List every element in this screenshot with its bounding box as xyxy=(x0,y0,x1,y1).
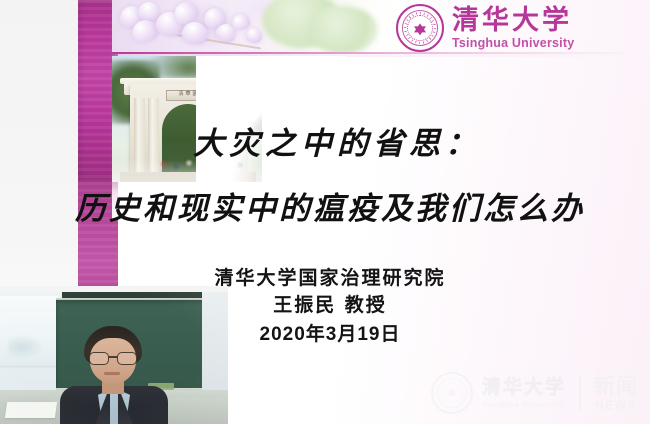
watermark-news-chinese: 新闻 xyxy=(594,375,638,396)
slide-title-line-2: 历史和现实中的瘟疫及我们怎么办 xyxy=(0,183,650,228)
speaker-figure xyxy=(58,320,170,424)
lilac-flowers-image xyxy=(112,0,400,53)
slide-title-line-1: 大灾之中的省思： xyxy=(0,118,650,163)
tsinghua-seal-watermark-icon xyxy=(431,372,473,414)
glasses-icon xyxy=(89,352,137,363)
logo-chinese-name: 清华大学 xyxy=(452,7,574,34)
slide-canvas: 清華園 清华大学 Tsinghua University 大灾之中的省思： 历史… xyxy=(0,0,650,424)
gate-plaque-text: 清華園 xyxy=(167,91,211,98)
tsinghua-seal-icon xyxy=(396,4,444,52)
watermark-chinese-name: 清华大学 xyxy=(482,378,566,397)
watermark-news-english: NEWS xyxy=(595,399,637,411)
watermark-divider xyxy=(579,376,581,410)
tsinghua-news-watermark: 清华大学 Tsinghua University 新闻 NEWS xyxy=(431,372,638,414)
star-icon xyxy=(414,23,426,32)
tsinghua-logo: 清华大学 Tsinghua University xyxy=(396,4,574,52)
watermark-english-name: Tsinghua University xyxy=(482,401,566,409)
logo-english-name: Tsinghua University xyxy=(452,37,574,50)
projection-screen xyxy=(0,296,58,366)
desk-paper xyxy=(5,402,57,418)
gate-plaque: 清華園 xyxy=(166,90,212,101)
speaker-video-inset[interactable] xyxy=(0,292,228,424)
